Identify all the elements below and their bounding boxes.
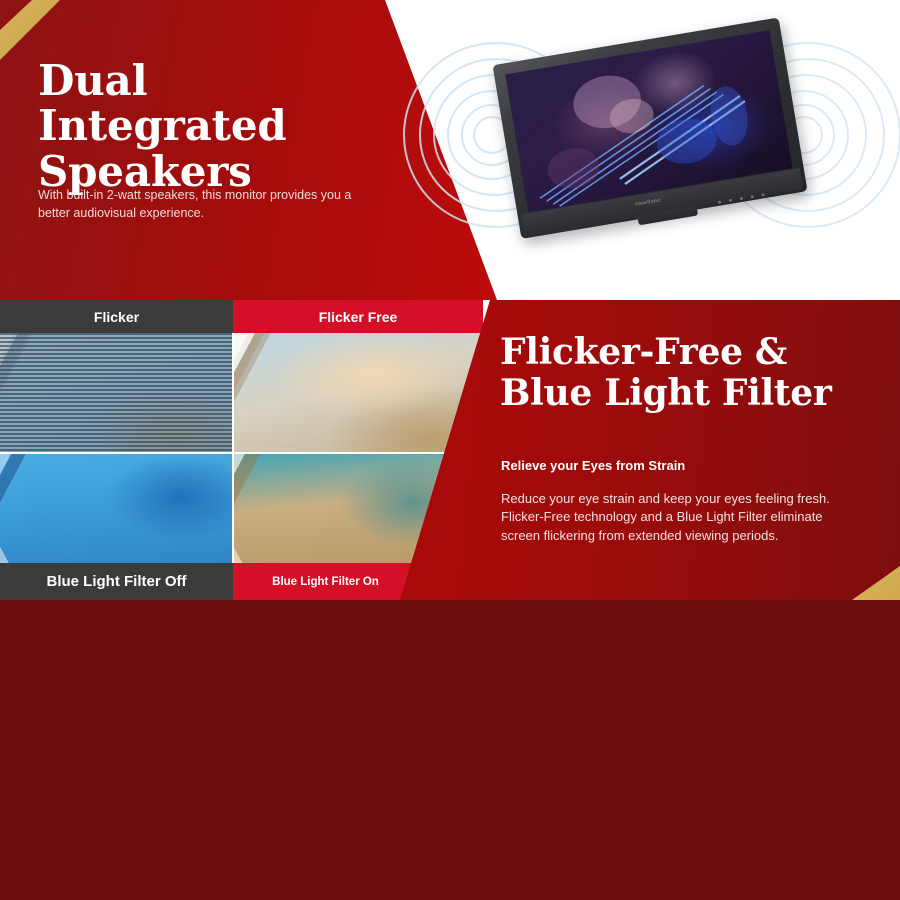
flicker-body-text: Reduce your eye strain and keep your eye… — [501, 490, 861, 545]
comparison-quadrant-flicker — [0, 333, 233, 453]
label-flicker-free: Flicker Free — [233, 300, 483, 333]
flicker-heading: Flicker-Free & Blue Light Filter — [500, 332, 880, 414]
product-feature-page: ViewSonic Dual Integrated Speakers With … — [0, 0, 900, 900]
quadrant-image-flicker — [0, 333, 233, 453]
page-footer-area — [0, 600, 900, 900]
speaker-monitor-illustration: ViewSonic — [455, 18, 885, 283]
comparison-quadrant-blf-off — [0, 453, 233, 563]
flicker-heading-line1: Flicker-Free & — [500, 332, 880, 373]
label-blue-light-filter-on: Blue Light Filter On — [233, 563, 418, 600]
label-blue-light-filter-off: Blue Light Filter Off — [0, 563, 233, 600]
speakers-body-text: With built-in 2-watt speakers, this moni… — [38, 186, 368, 222]
section-dual-integrated-speakers: ViewSonic Dual Integrated Speakers With … — [0, 0, 900, 300]
comparison-quadrant-flicker-free — [233, 333, 483, 453]
quadrant-image-blf-off — [0, 453, 233, 563]
speakers-heading-line1: Dual Integrated — [38, 58, 398, 149]
speakers-heading: Dual Integrated Speakers — [38, 58, 398, 194]
flicker-subtitle: Relieve your Eyes from Strain — [501, 458, 871, 473]
label-flicker: Flicker — [0, 300, 233, 333]
flicker-heading-line2: Blue Light Filter — [500, 373, 880, 414]
quadrant-image-flicker-free — [233, 333, 483, 453]
section-flicker-free-blue-light-filter: Flicker Flicker Free Blue Light Filter O… — [0, 300, 900, 600]
comparison-divider-vertical — [232, 333, 234, 563]
comparison-divider-horizontal — [0, 452, 483, 454]
